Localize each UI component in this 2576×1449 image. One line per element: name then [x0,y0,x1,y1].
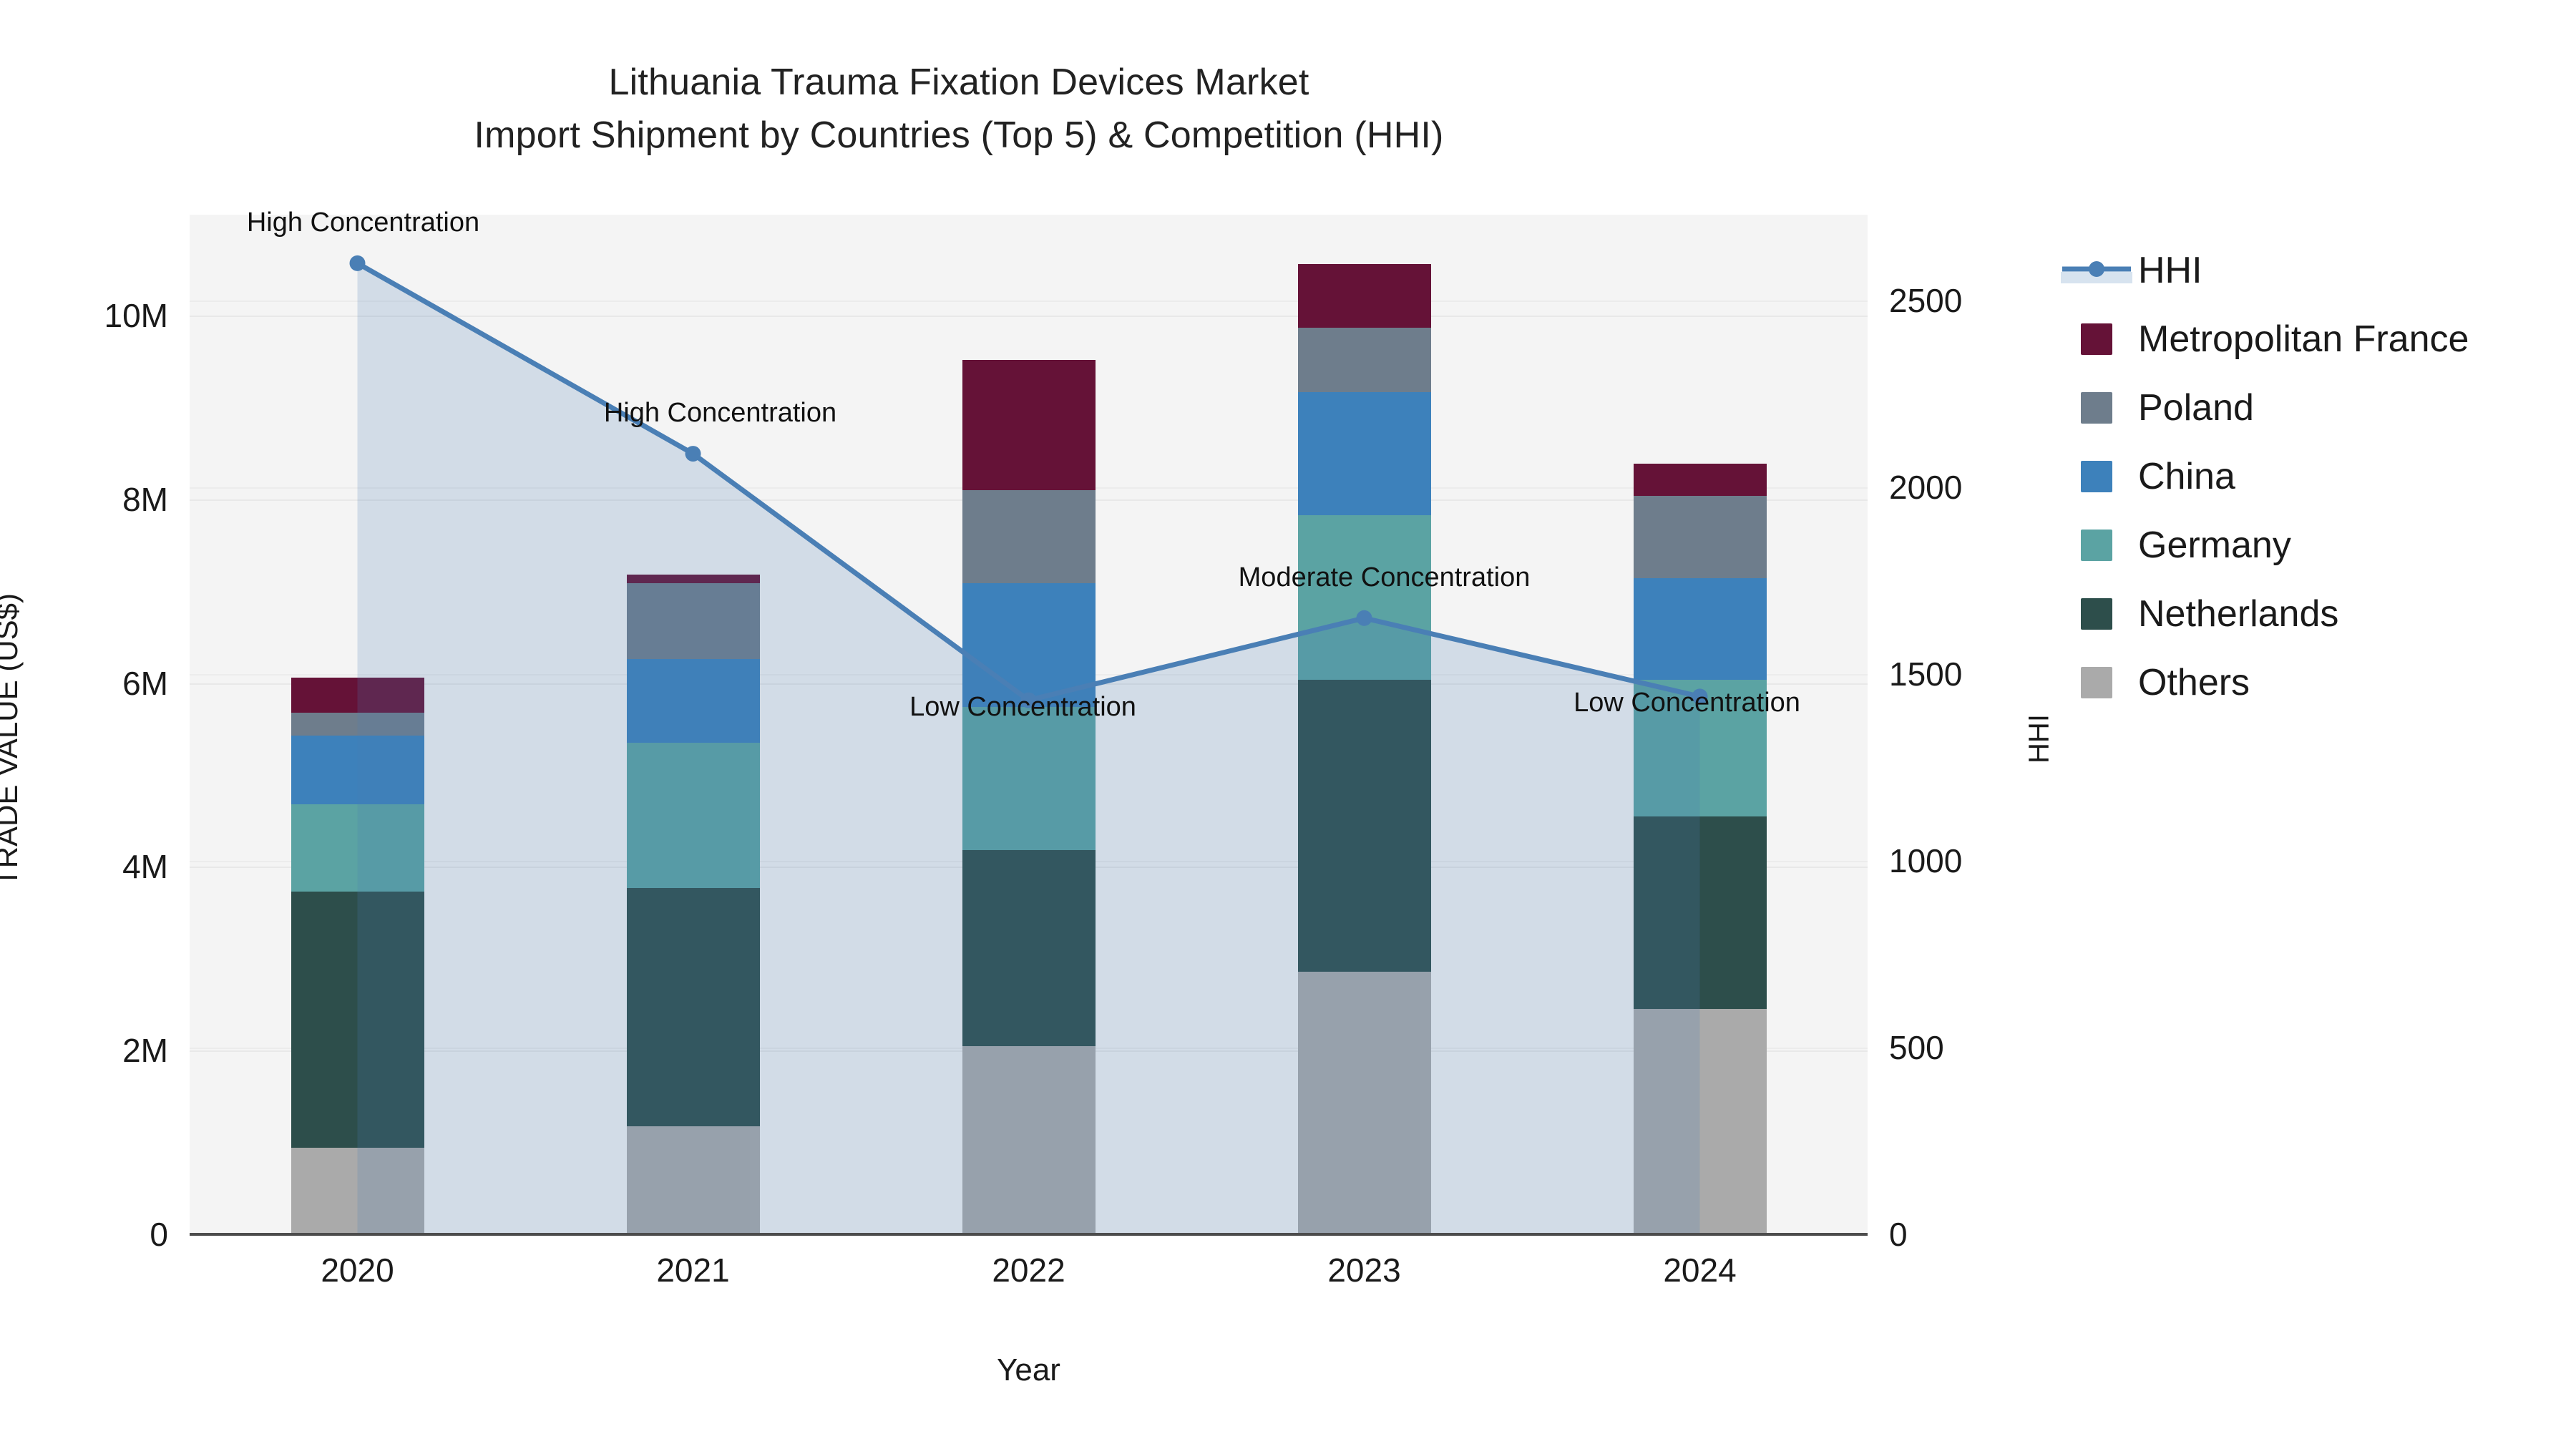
annotation-2021: High Concentration [604,398,836,429]
legend-item-label: China [2138,455,2235,498]
x-axis-tick-2020: 2020 [250,1251,465,1289]
y-axis-left-tick: 10M [21,296,168,335]
y-axis-right-title: HHI [2024,632,2056,847]
x-axis-title: Year [190,1352,1868,1388]
legend-swatch [2081,323,2112,355]
chart-title: Lithuania Trauma Fixation Devices Market… [0,56,1918,162]
x-axis-tick-2022: 2022 [922,1251,1136,1289]
legend-swatch [2081,598,2112,630]
chart-root: Lithuania Trauma Fixation Devices Market… [0,0,2576,1449]
annotation-2020: High Concentration [247,208,479,238]
hhi-area-fill [358,263,1700,1234]
y-axis-left-tick: 4M [21,847,168,886]
legend-item-netherlands[interactable]: Netherlands [2061,580,2562,648]
legend-item-germany[interactable]: Germany [2061,511,2562,580]
x-axis-tick-2024: 2024 [1593,1251,1807,1289]
legend-item-label: Others [2138,661,2250,704]
y-axis-left-tick: 6M [21,664,168,703]
chart-title-line-1: Lithuania Trauma Fixation Devices Market [0,56,1918,109]
annotation-2024: Low Concentration [1574,688,1800,718]
legend-item-label: Germany [2138,524,2291,567]
legend-swatch [2081,530,2112,561]
hhi-marker-2021[interactable] [686,446,701,462]
y-axis-right-tick: 2500 [1889,281,2046,320]
y-axis-right-tick: 500 [1889,1028,2046,1067]
chart-title-line-2: Import Shipment by Countries (Top 5) & C… [0,109,1918,162]
y-axis-left-tick: 0 [21,1215,168,1254]
annotation-2023: Moderate Concentration [1239,562,1531,593]
legend-item-others[interactable]: Others [2061,648,2562,717]
y-axis-right-tick: 2000 [1889,468,2046,507]
legend-item-label: Poland [2138,386,2254,429]
hhi-marker-2023[interactable] [1357,610,1372,626]
legend-item-china[interactable]: China [2061,442,2562,511]
x-axis-line [190,1233,1868,1236]
annotation-2022: Low Concentration [909,692,1136,723]
legend-swatch [2081,392,2112,424]
hhi-legend-icon [2061,255,2132,286]
legend-item-hhi[interactable]: HHI [2061,236,2562,305]
hhi-marker-2020[interactable] [350,255,366,271]
x-axis-tick-2023: 2023 [1257,1251,1472,1289]
legend-item-label: Netherlands [2138,592,2338,635]
y-axis-left-tick: 8M [21,480,168,519]
legend-item-label: Metropolitan France [2138,318,2469,361]
legend-swatch [2081,667,2112,698]
y-axis-right-tick: 0 [1889,1215,2046,1254]
legend-swatch [2081,461,2112,492]
legend: HHIMetropolitan FrancePolandChinaGermany… [2061,236,2562,717]
legend-item-poland[interactable]: Poland [2061,374,2562,442]
hhi-line-series [190,215,1868,1234]
y-axis-left-title: TRADE VALUE (US$) [0,454,24,1026]
y-axis-left-tick: 2M [21,1031,168,1070]
legend-item-metropolitan-france[interactable]: Metropolitan France [2061,305,2562,374]
legend-item-label: HHI [2138,249,2202,292]
y-axis-right-tick: 1000 [1889,841,2046,880]
x-axis-tick-2021: 2021 [586,1251,801,1289]
